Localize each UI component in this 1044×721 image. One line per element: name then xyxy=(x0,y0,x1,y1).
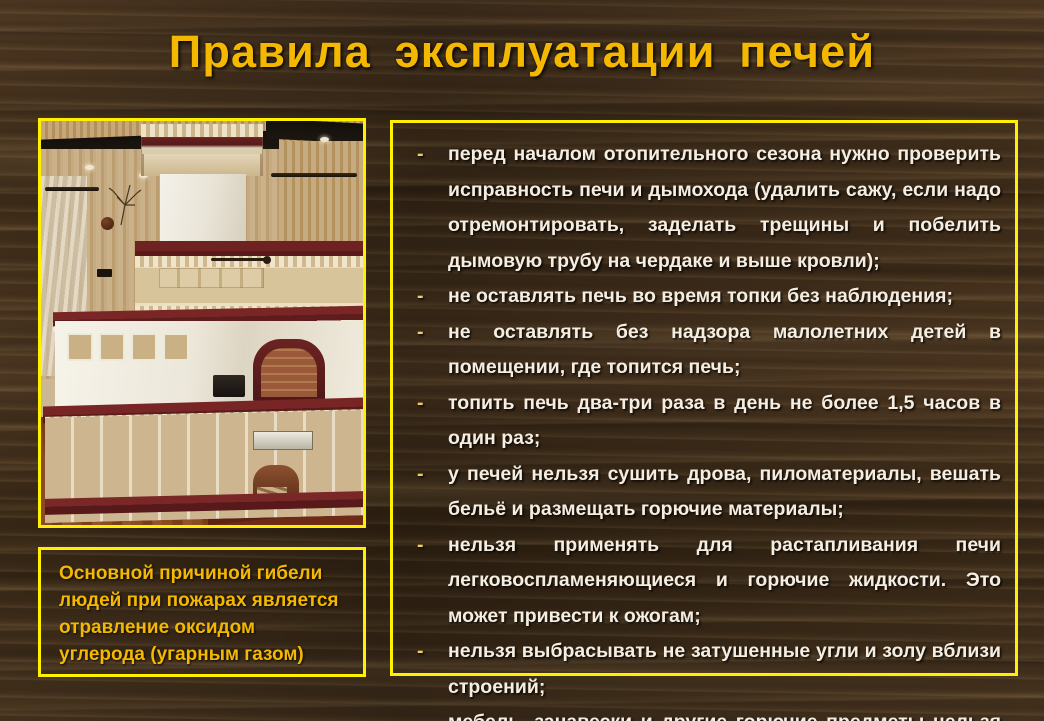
co-poisoning-caption-box: Основной причиной гибели людей при пожар… xyxy=(38,547,366,677)
stove-photo xyxy=(41,121,363,525)
chimney-tile-left xyxy=(163,154,185,172)
rule-item: мебель, занавески и другие горючие предм… xyxy=(409,705,1001,721)
stove-chimney xyxy=(160,174,246,247)
curtain-rod-right xyxy=(271,173,357,177)
stove-mid-tiles xyxy=(159,268,264,288)
ceiling-light-3 xyxy=(320,137,329,142)
caption-line-1: Основной причиной гибели xyxy=(59,560,349,587)
stove-body-tile-1 xyxy=(67,333,93,361)
caption-line-4: углерода (угарным газом) xyxy=(59,641,349,668)
stove-iron-door xyxy=(213,375,245,397)
stove-vent xyxy=(253,431,313,450)
chimney-tile-right xyxy=(217,154,239,172)
stove-firebox-brick xyxy=(261,348,317,397)
stove-towel-bar xyxy=(211,258,267,261)
stove-chimney-cap xyxy=(141,124,263,176)
stove-photo-frame xyxy=(38,118,366,528)
rule-item: нельзя применять для растапливания печи … xyxy=(409,528,1001,635)
stove-body-tile-3 xyxy=(131,333,157,361)
stove-body-tile-2 xyxy=(99,333,125,361)
slide-root: Правила эксплуатации печей xyxy=(0,0,1044,721)
rule-item: не оставлять печь во время топки без наб… xyxy=(409,279,1001,315)
caption-line-3: отравление оксидом xyxy=(59,614,349,641)
ceiling-light-1 xyxy=(85,165,94,170)
rule-item: перед началом отопительного сезона нужно… xyxy=(409,137,1001,279)
stove-rules-panel: перед началом отопительного сезона нужно… xyxy=(390,120,1018,676)
stove-body-tile-4 xyxy=(163,333,189,361)
wall-plant-pot xyxy=(101,217,114,230)
rule-item: у печей нельзя сушить дрова, пиломатериа… xyxy=(409,457,1001,528)
stove-firebox-arch xyxy=(253,339,325,401)
caption-line-2: людей при пожарах является xyxy=(59,587,349,614)
rule-item: нельзя выбрасывать не затушенные угли и … xyxy=(409,634,1001,705)
rule-item: топить печь два-три раза в день не более… xyxy=(409,386,1001,457)
page-title: Правила эксплуатации печей xyxy=(0,26,1044,78)
rules-list: перед началом отопительного сезона нужно… xyxy=(409,137,1001,721)
curtain-rod-left xyxy=(45,187,99,191)
rule-item: не оставлять без надзора малолетних дете… xyxy=(409,315,1001,386)
wall-socket xyxy=(97,269,112,277)
